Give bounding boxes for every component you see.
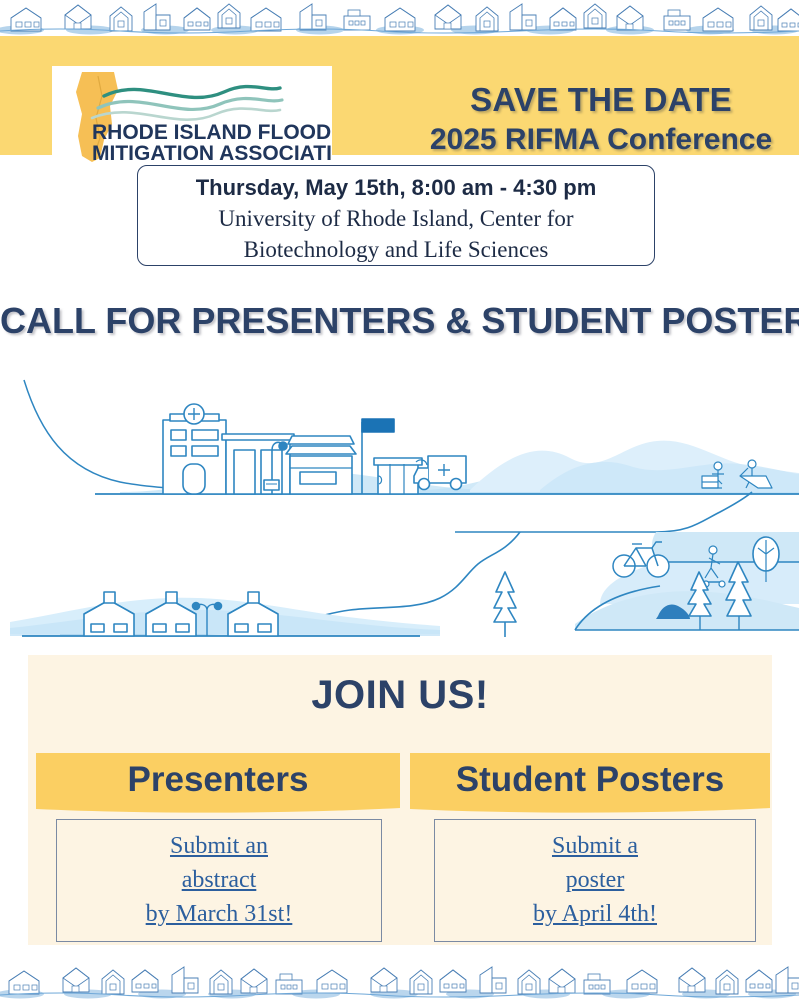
student-posters-ribbon: Student Posters [410,753,770,807]
presenters-ribbon: Presenters [36,753,400,807]
header-title-block: SAVE THE DATE 2025 RIFMA Conference [420,80,782,160]
abstract-link-line-1[interactable]: Submit an [63,829,375,863]
poster-submission-box[interactable]: Submit a poster by April 4th! [434,819,756,942]
bottom-house-border [0,962,799,1000]
save-the-date-title: SAVE THE DATE [420,80,782,120]
flyer-page: RHODE ISLAND FLOOD MITIGATION ASSOCIATIO… [0,0,799,1000]
logo-line-2: MITIGATION ASSOCIATION [92,142,332,165]
poster-link-line-1[interactable]: Submit a [441,829,749,863]
flood-resilience-illustration [0,372,799,657]
event-date-time: Thursday, May 15th, 8:00 am - 4:30 pm [138,173,654,203]
poster-link-line-2[interactable]: poster [441,863,749,897]
presenters-column: Presenters Submit an abstract by March 3… [36,753,400,942]
call-for-presenters-heading: CALL FOR PRESENTERS & STUDENT POSTERS [0,300,799,342]
abstract-submission-box[interactable]: Submit an abstract by March 31st! [56,819,382,942]
join-us-panel: JOIN US! Presenters Submit an abstract b… [28,655,772,945]
event-details-box: Thursday, May 15th, 8:00 am - 4:30 pm Un… [137,165,655,266]
header-band: RHODE ISLAND FLOOD MITIGATION ASSOCIATIO… [0,36,799,155]
poster-link-line-3[interactable]: by April 4th! [441,897,749,931]
student-posters-column: Student Posters Submit a poster by April… [410,753,770,942]
student-posters-ribbon-label: Student Posters [410,753,770,807]
rifma-logo: RHODE ISLAND FLOOD MITIGATION ASSOCIATIO… [52,66,332,169]
event-location-line-1: University of Rhode Island, Center for [138,203,654,234]
ribbon-tail-shape [36,806,400,814]
abstract-link-line-3[interactable]: by March 31st! [63,897,375,931]
presenters-ribbon-label: Presenters [36,753,400,807]
ribbon-tail-shape [410,806,770,814]
event-location-line-2: Biotechnology and Life Sciences [138,234,654,265]
conference-name: 2025 RIFMA Conference [420,120,782,160]
abstract-link-line-2[interactable]: abstract [63,863,375,897]
join-us-title: JOIN US! [28,673,772,718]
logo-line-1: RHODE ISLAND FLOOD [92,121,331,144]
top-house-border [0,0,799,36]
